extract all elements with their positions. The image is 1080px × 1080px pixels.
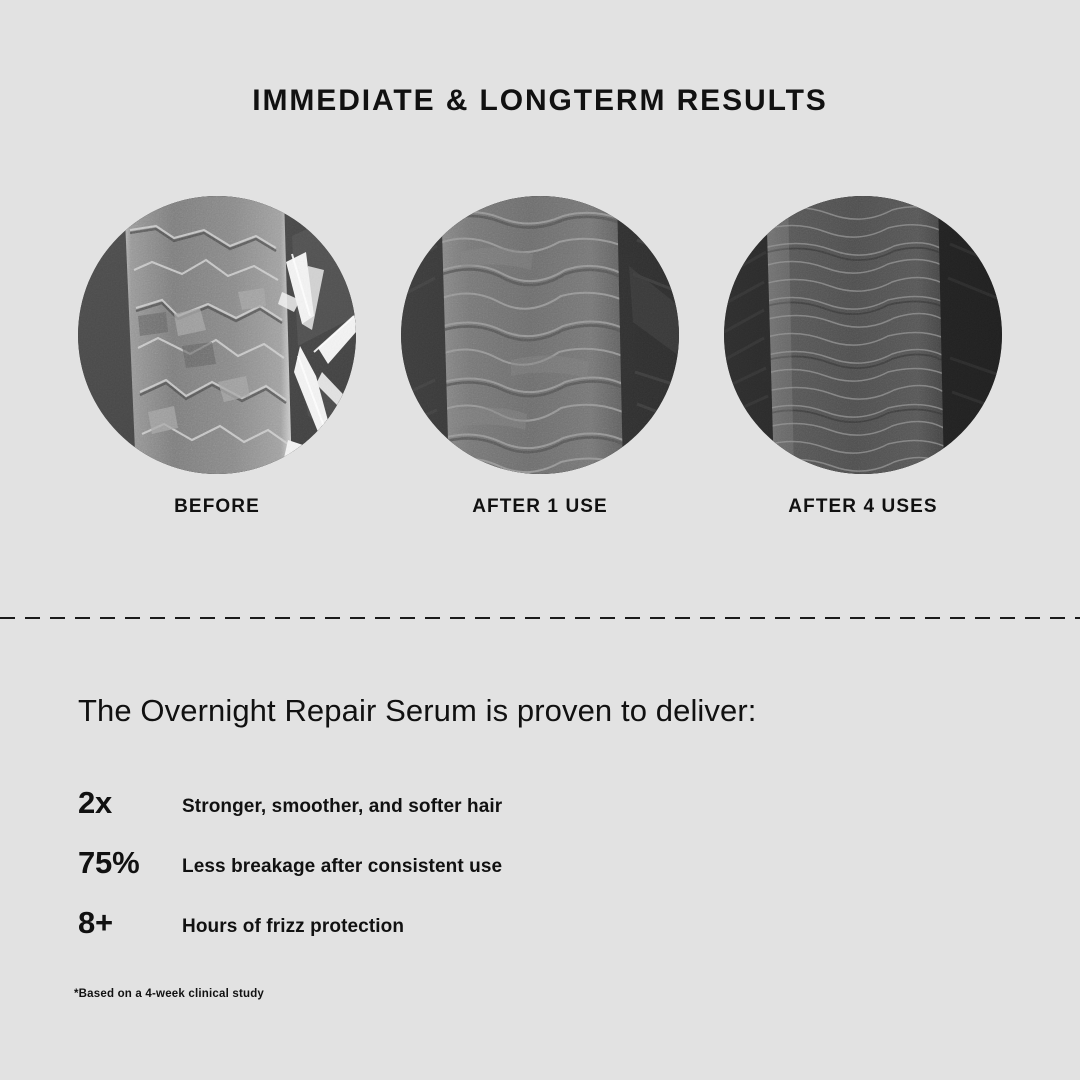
stat-description: Less breakage after consistent use xyxy=(182,857,502,876)
footnote: *Based on a 4-week clinical study xyxy=(74,988,264,1000)
results-section: IMMEDIATE & LONGTERM RESULTS xyxy=(0,0,1080,618)
comparison-item-after-1-use: AFTER 1 USE xyxy=(401,196,679,474)
claims-heading: The Overnight Repair Serum is proven to … xyxy=(78,693,757,729)
stat-value: 8+ xyxy=(78,907,182,938)
stage-label-before: BEFORE xyxy=(78,496,356,518)
stat-row: 2x Stronger, smoother, and softer hair xyxy=(78,787,778,847)
stat-row: 8+ Hours of frizz protection xyxy=(78,907,778,967)
comparison-item-after-4-uses: AFTER 4 USES xyxy=(724,196,1002,474)
stat-value: 2x xyxy=(78,787,182,818)
sem-image-after-4-uses xyxy=(724,196,1002,474)
stats-list: 2x Stronger, smoother, and softer hair 7… xyxy=(78,787,778,967)
comparison-row: BEFORE xyxy=(78,196,1002,474)
sem-image-after-1-use xyxy=(401,196,679,474)
stat-description: Hours of frizz protection xyxy=(182,917,404,936)
stat-row: 75% Less breakage after consistent use xyxy=(78,847,778,907)
comparison-item-before: BEFORE xyxy=(78,196,356,474)
stage-label-after-4-uses: AFTER 4 USES xyxy=(724,496,1002,518)
sem-image-before xyxy=(78,196,356,474)
stage-label-after-1-use: AFTER 1 USE xyxy=(401,496,679,518)
claims-section: The Overnight Repair Serum is proven to … xyxy=(0,619,1080,1080)
stat-value: 75% xyxy=(78,847,182,878)
stat-description: Stronger, smoother, and softer hair xyxy=(182,797,502,816)
page-title: IMMEDIATE & LONGTERM RESULTS xyxy=(0,84,1080,118)
